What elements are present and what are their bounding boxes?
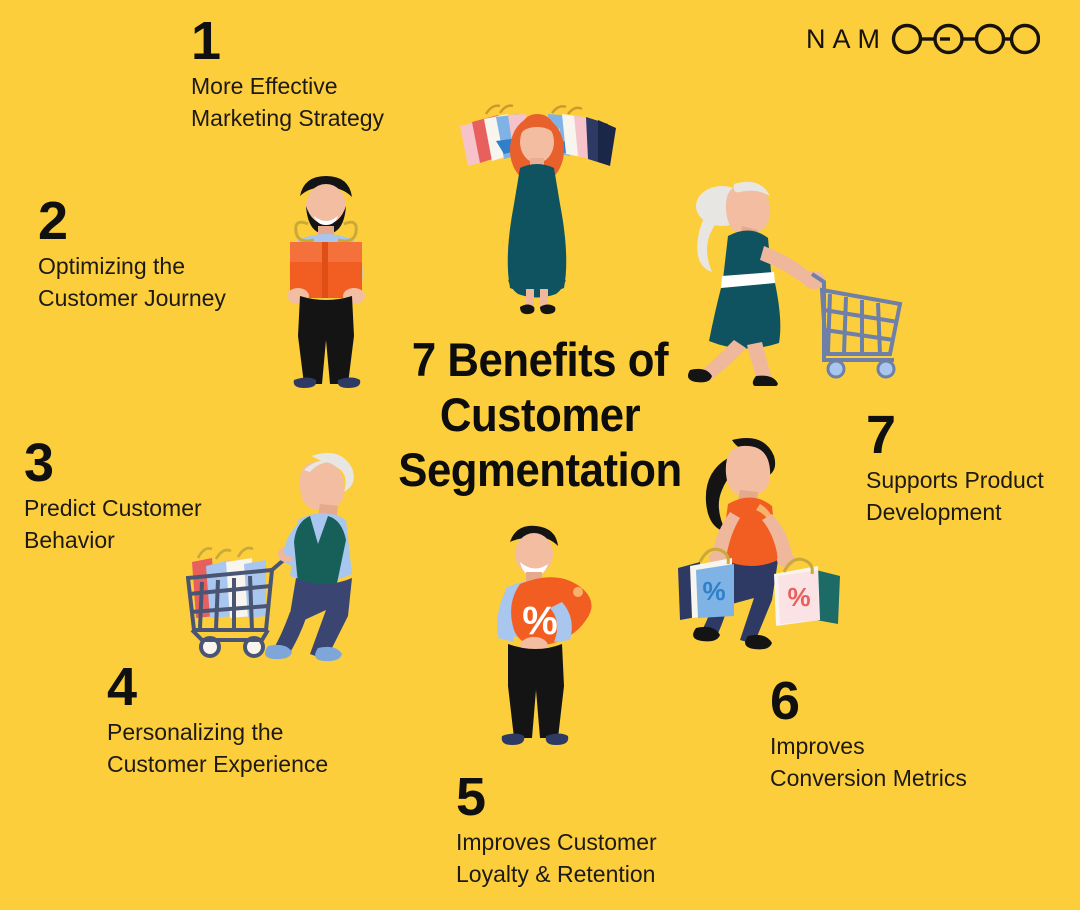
benefit-number-7: 7 bbox=[866, 410, 1044, 461]
benefit-item-4: 4 Personalizing the Customer Experience bbox=[107, 662, 328, 781]
percent-symbol-pink-bag: % bbox=[787, 582, 810, 612]
man-holding-gift-box-illustration bbox=[264, 168, 390, 390]
benefit-number-2: 2 bbox=[38, 196, 226, 247]
woman-carrying-sale-bags-illustration: % % bbox=[666, 428, 856, 656]
benefit-number-5: 5 bbox=[456, 772, 657, 823]
namogoo-logo: NAM bbox=[806, 22, 1040, 56]
benefit-number-4: 4 bbox=[107, 662, 328, 713]
percent-symbol-blue-bag: % bbox=[702, 576, 725, 606]
benefit-label-7: Supports Product Development bbox=[866, 465, 1044, 528]
senior-man-pushing-full-cart-illustration bbox=[186, 440, 391, 665]
benefit-number-3: 3 bbox=[24, 438, 202, 489]
benefit-item-5: 5 Improves Customer Loyalty & Retention bbox=[456, 772, 657, 891]
logo-chain-icon bbox=[890, 22, 1040, 56]
benefit-label-3: Predict Customer Behavior bbox=[24, 493, 202, 556]
benefit-item-6: 6 Improves Conversion Metrics bbox=[770, 676, 967, 795]
benefit-label-1: More Effective Marketing Strategy bbox=[191, 71, 384, 134]
man-hugging-discount-tag-illustration: % bbox=[474, 518, 606, 754]
benefit-item-7: 7 Supports Product Development bbox=[866, 410, 1044, 529]
benefit-label-6: Improves Conversion Metrics bbox=[770, 731, 967, 794]
woman-raising-shopping-bags-illustration bbox=[452, 84, 622, 319]
benefit-item-3: 3 Predict Customer Behavior bbox=[24, 438, 202, 557]
benefit-label-5: Improves Customer Loyalty & Retention bbox=[456, 827, 657, 890]
page-title: 7 Benefits of Customer Segmentation bbox=[368, 333, 712, 498]
benefit-item-1: 1 More Effective Marketing Strategy bbox=[191, 16, 384, 135]
benefit-label-4: Personalizing the Customer Experience bbox=[107, 717, 328, 780]
infographic-canvas: NAM 7 Benefits of Customer Segmentation … bbox=[0, 0, 1080, 910]
benefit-number-1: 1 bbox=[191, 16, 384, 67]
benefit-label-2: Optimizing the Customer Journey bbox=[38, 251, 226, 314]
benefit-number-6: 6 bbox=[770, 676, 967, 727]
benefit-item-2: 2 Optimizing the Customer Journey bbox=[38, 196, 226, 315]
woman-pushing-empty-cart-illustration bbox=[672, 164, 907, 386]
logo-wordmark: NAM bbox=[806, 26, 887, 53]
percent-symbol-tag: % bbox=[522, 599, 558, 643]
